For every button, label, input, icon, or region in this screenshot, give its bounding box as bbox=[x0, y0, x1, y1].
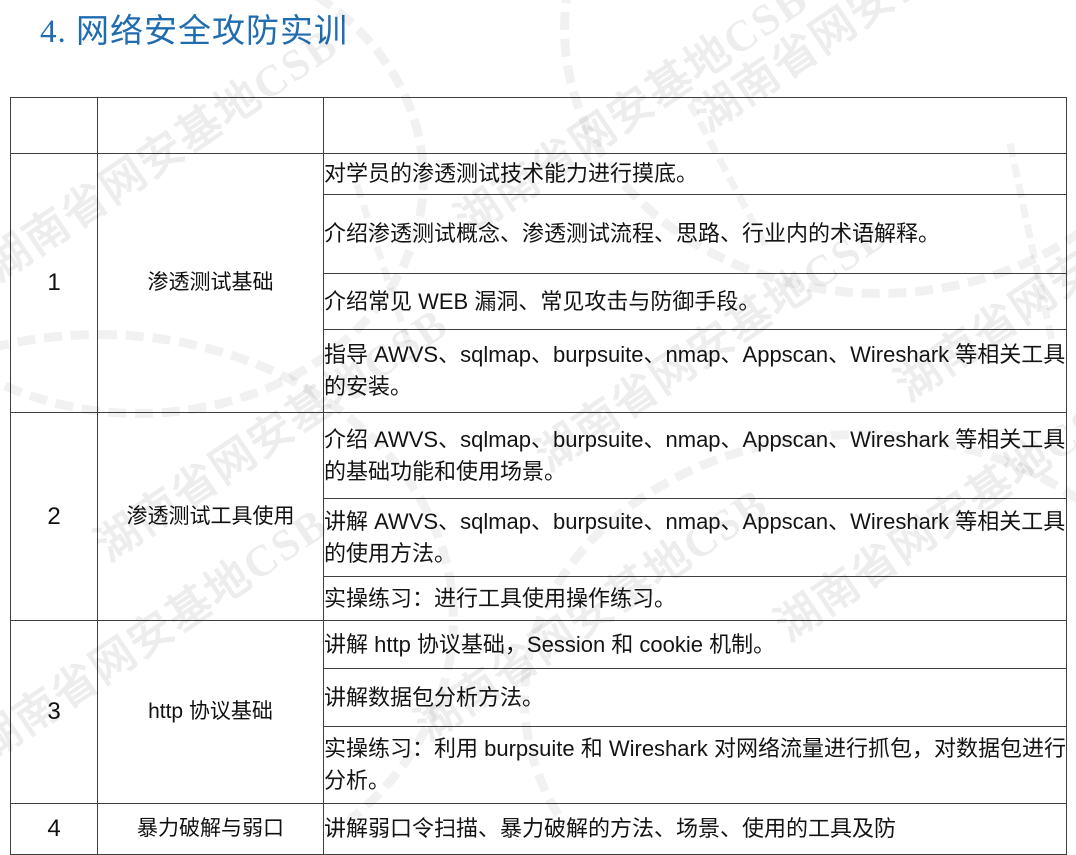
cell-main: 渗透测试基础 bbox=[98, 154, 324, 413]
cell-detail: 讲解 http 协议基础，Session 和 cookie 机制。 bbox=[324, 621, 1067, 669]
table-body: 1 渗透测试基础 对学员的渗透测试技术能力进行摸底。 介绍渗透测试概念、渗透测试… bbox=[11, 154, 1067, 855]
cell-main: 渗透测试工具使用 bbox=[98, 413, 324, 621]
column-header-detail: 具体内容 bbox=[324, 98, 1067, 154]
table-row: 4 暴力破解与弱口 讲解弱口令扫描、暴力破解的方法、场景、使用的工具及防 bbox=[11, 804, 1067, 855]
cell-seq: 3 bbox=[11, 621, 98, 804]
cell-detail: 介绍渗透测试概念、渗透测试流程、思路、行业内的术语解释。 bbox=[324, 195, 1067, 274]
table-row: 2 渗透测试工具使用 介绍 AWVS、sqlmap、burpsuite、nmap… bbox=[11, 413, 1067, 499]
column-header-seq: 序号 bbox=[11, 98, 98, 154]
course-table-container: 序号 主要内容 具体内容 1 渗透测试基础 对学员的渗透测试技术能力进行摸底。 … bbox=[10, 97, 1066, 855]
cell-seq: 1 bbox=[11, 154, 98, 413]
course-outline-table: 序号 主要内容 具体内容 1 渗透测试基础 对学员的渗透测试技术能力进行摸底。 … bbox=[10, 97, 1067, 855]
cell-detail: 讲解 AWVS、sqlmap、burpsuite、nmap、Appscan、Wi… bbox=[324, 499, 1067, 577]
cell-main: 暴力破解与弱口 bbox=[98, 804, 324, 855]
table-header: 序号 主要内容 具体内容 bbox=[11, 98, 1067, 154]
cell-detail: 指导 AWVS、sqlmap、burpsuite、nmap、Appscan、Wi… bbox=[324, 330, 1067, 413]
table-row: 3 http 协议基础 讲解 http 协议基础，Session 和 cooki… bbox=[11, 621, 1067, 669]
cell-detail: 介绍常见 WEB 漏洞、常见攻击与防御手段。 bbox=[324, 274, 1067, 330]
table-row: 1 渗透测试基础 对学员的渗透测试技术能力进行摸底。 bbox=[11, 154, 1067, 195]
cell-detail: 讲解弱口令扫描、暴力破解的方法、场景、使用的工具及防 bbox=[324, 804, 1067, 855]
cell-seq: 4 bbox=[11, 804, 98, 855]
cell-main: http 协议基础 bbox=[98, 621, 324, 804]
table-header-row: 序号 主要内容 具体内容 bbox=[11, 98, 1067, 154]
cell-detail: 实操练习：利用 burpsuite 和 Wireshark 对网络流量进行抓包，… bbox=[324, 727, 1067, 804]
cell-detail: 实操练习：进行工具使用操作练习。 bbox=[324, 577, 1067, 621]
column-header-main: 主要内容 bbox=[98, 98, 324, 154]
cell-detail: 介绍 AWVS、sqlmap、burpsuite、nmap、Appscan、Wi… bbox=[324, 413, 1067, 499]
document-page: 4. 网络安全攻防实训 序号 主要内容 具体内容 1 渗透测试基础 bbox=[0, 0, 1076, 55]
cell-detail: 对学员的渗透测试技术能力进行摸底。 bbox=[324, 154, 1067, 195]
page-title: 4. 网络安全攻防实训 bbox=[0, 0, 1076, 55]
cell-detail: 讲解数据包分析方法。 bbox=[324, 669, 1067, 727]
cell-seq: 2 bbox=[11, 413, 98, 621]
